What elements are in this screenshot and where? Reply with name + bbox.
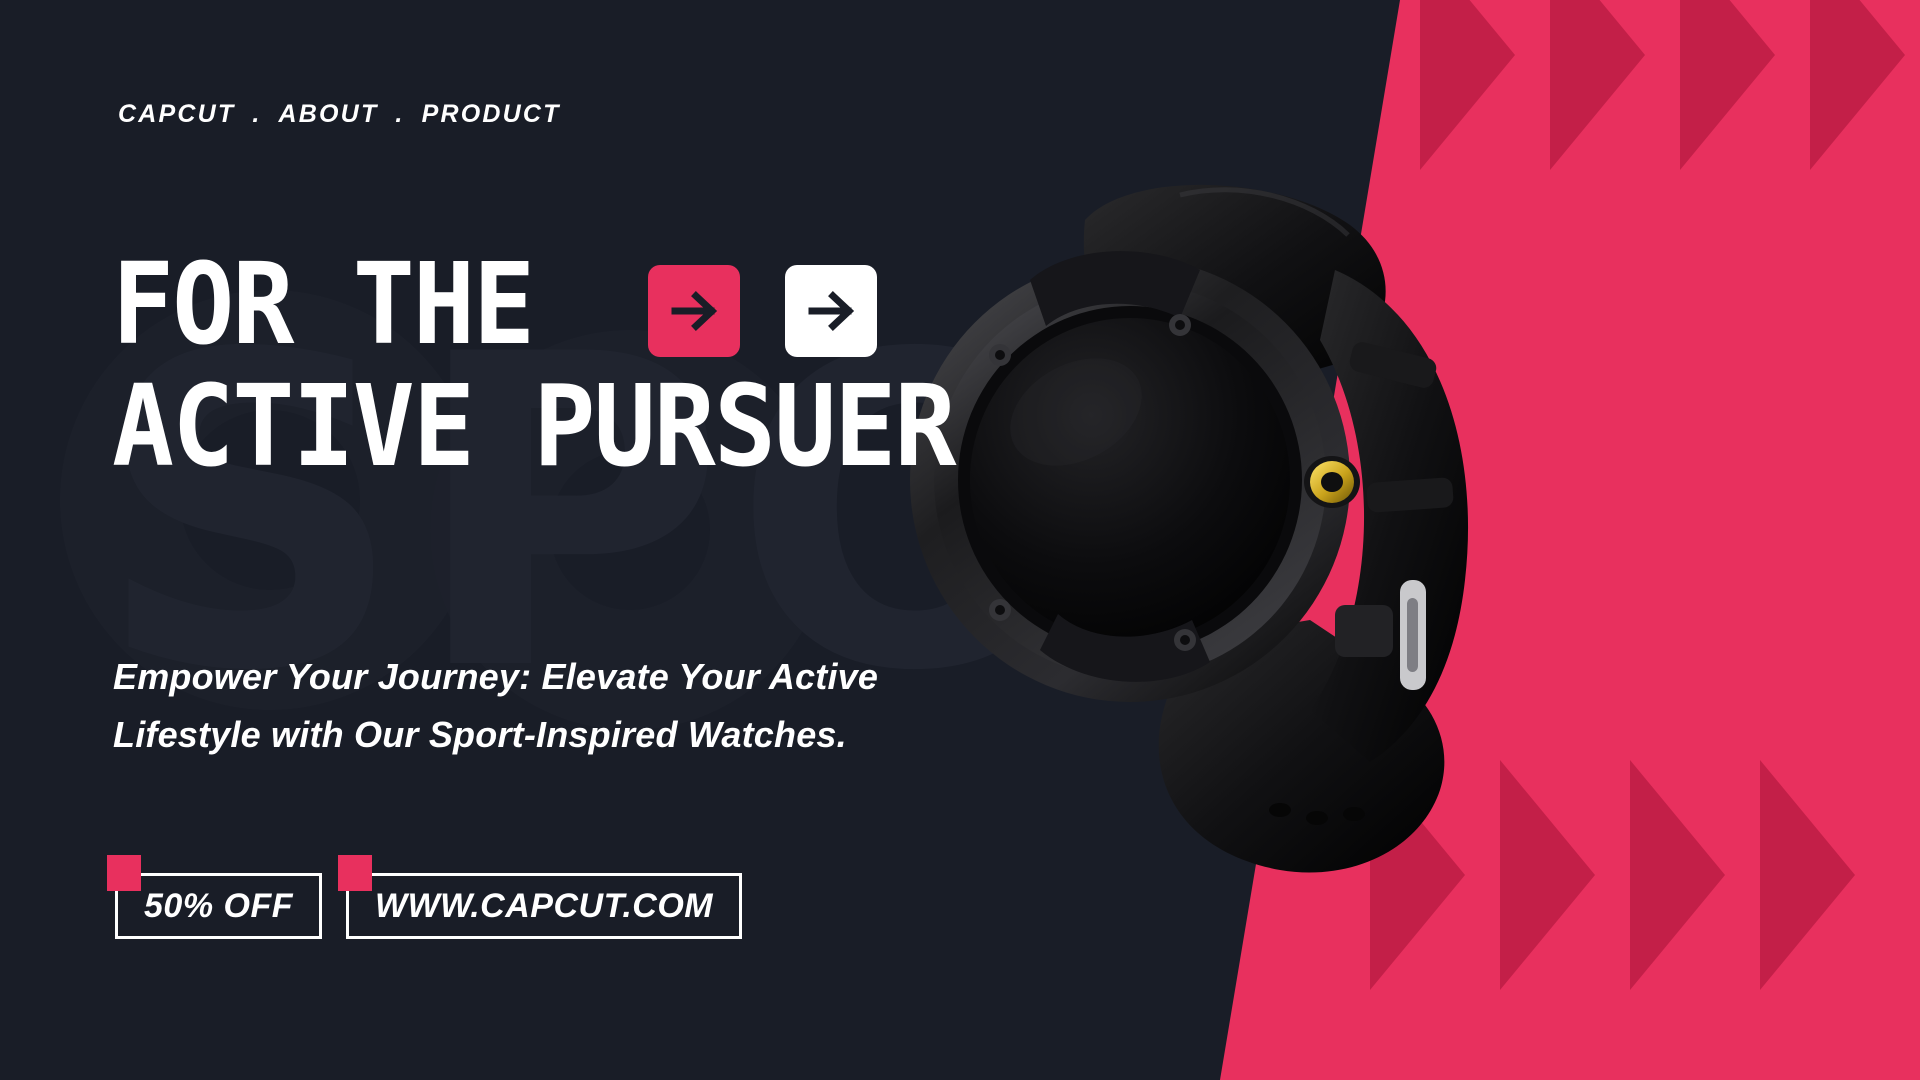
nav-item-product[interactable]: PRODUCT <box>422 100 561 129</box>
headline-block: FOR THE ACTIVE PURSUER <box>112 252 1028 481</box>
website-badge[interactable]: WWW.CAPCUT.COM <box>346 873 742 939</box>
nav-item-capcut[interactable]: CAPCUT <box>118 100 235 129</box>
chevron-icon <box>1630 760 1725 990</box>
nav-separator: . <box>235 100 278 129</box>
arrow-right-pink-button[interactable] <box>648 265 740 357</box>
arrow-right-icon <box>806 286 856 336</box>
chevron-icon <box>1420 0 1515 170</box>
badge-corner-square <box>107 855 141 891</box>
discount-badge-box: 50% OFF <box>115 873 322 939</box>
subtitle-line-1: Empower Your Journey: Elevate Your Activ… <box>113 648 878 706</box>
discount-badge-label: 50% OFF <box>144 887 293 926</box>
discount-badge[interactable]: 50% OFF <box>115 873 322 939</box>
arrow-button-group <box>648 265 877 357</box>
headline-line-1: FOR THE <box>112 252 533 360</box>
chevron-icon <box>1810 0 1905 170</box>
website-badge-label: WWW.CAPCUT.COM <box>375 887 713 926</box>
chevron-icon <box>1680 0 1775 170</box>
nav-item-about[interactable]: ABOUT <box>279 100 379 129</box>
headline-row-1: FOR THE <box>112 252 1028 360</box>
cta-badge-group: 50% OFF WWW.CAPCUT.COM <box>115 873 742 939</box>
subtitle-line-2: Lifestyle with Our Sport-Inspired Watche… <box>113 706 878 764</box>
top-navigation: CAPCUT . ABOUT . PRODUCT <box>118 100 561 129</box>
subtitle-block: Empower Your Journey: Elevate Your Activ… <box>113 648 878 765</box>
badge-corner-square <box>338 855 372 891</box>
banner-canvas: SPO <box>0 0 1920 1080</box>
nav-separator: . <box>378 100 421 129</box>
headline-line-2: ACTIVE PURSUER <box>112 374 955 482</box>
website-badge-box: WWW.CAPCUT.COM <box>346 873 742 939</box>
chevron-icon <box>1550 0 1645 170</box>
arrow-right-white-button[interactable] <box>785 265 877 357</box>
chevron-icon <box>1760 760 1855 990</box>
arrow-right-icon <box>669 286 719 336</box>
